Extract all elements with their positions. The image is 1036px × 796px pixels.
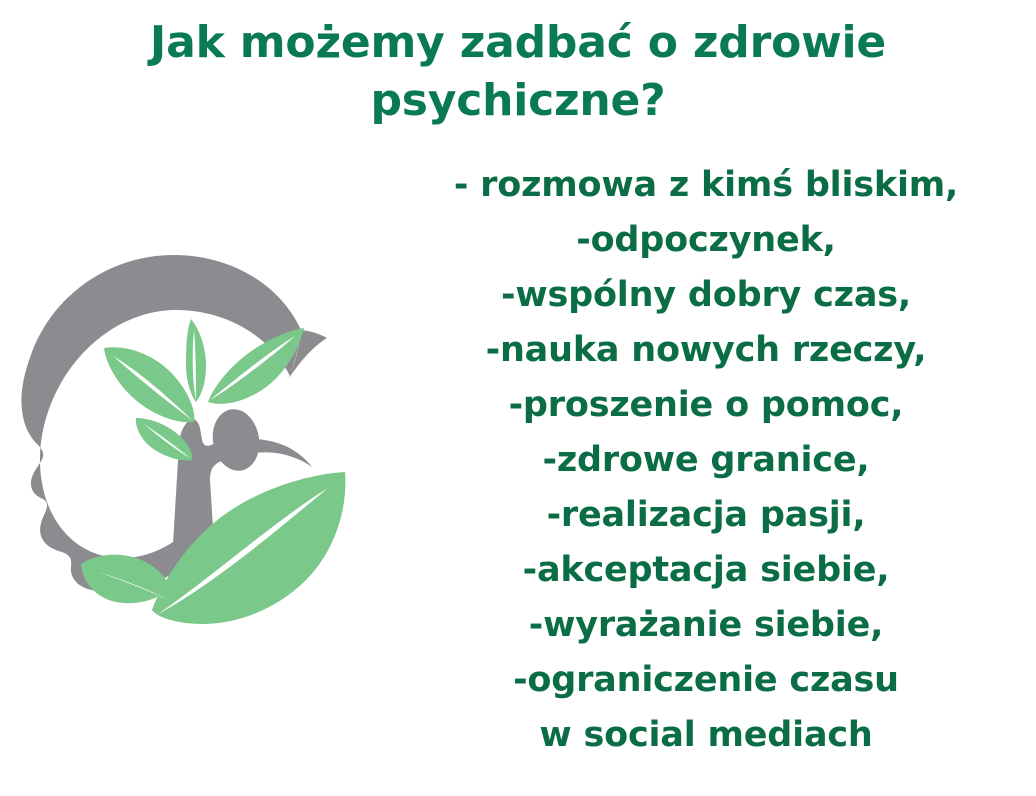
title-line-2: psychiczne? <box>60 72 976 130</box>
list-item: -zdrowe granice, <box>386 433 1026 488</box>
list-item: -proszenie o pomoc, <box>386 378 1026 433</box>
list-item: -wspólny dobry czas, <box>386 268 1026 323</box>
leaf-center-sprout <box>186 319 206 402</box>
page-title: Jak możemy zadbać o zdrowie psychiczne? <box>60 14 976 130</box>
list-item: -nauka nowych rzeczy, <box>386 323 1026 378</box>
list-item: -odpoczynek, <box>386 213 1026 268</box>
list-item: - rozmowa z kimś bliskim, <box>386 158 1026 213</box>
list-item: -realizacja pasji, <box>386 488 1026 543</box>
title-line-1: Jak możemy zadbać o zdrowie <box>60 14 976 72</box>
list-item: -akceptacja siebie, <box>386 543 1026 598</box>
list-item: -ograniczenie czasu <box>386 653 1026 708</box>
tips-list: - rozmowa z kimś bliskim, -odpoczynek, -… <box>386 158 1026 763</box>
list-item: w social mediach <box>386 708 1026 763</box>
list-item: -wyrażanie siebie, <box>386 598 1026 653</box>
poster-canvas: Jak możemy zadbać o zdrowie psychiczne? <box>0 0 1036 796</box>
mental-health-illustration <box>18 232 366 652</box>
